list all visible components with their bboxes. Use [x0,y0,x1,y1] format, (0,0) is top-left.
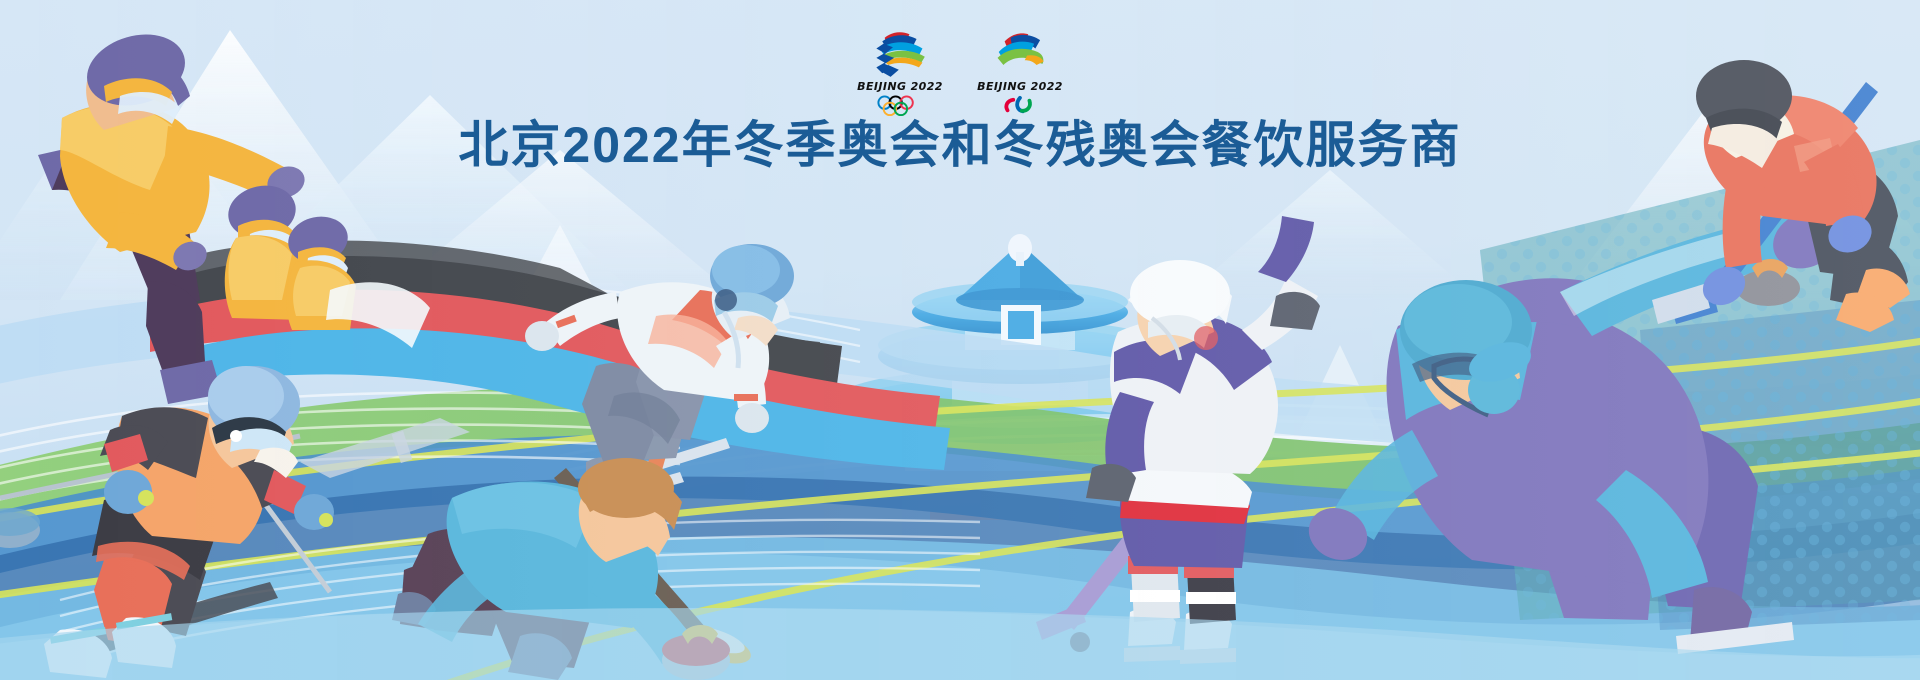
banner-illustration [0,0,1920,680]
olympic-banner: BEIJING 2022 [0,0,1920,680]
haze-overlay [0,0,1920,680]
